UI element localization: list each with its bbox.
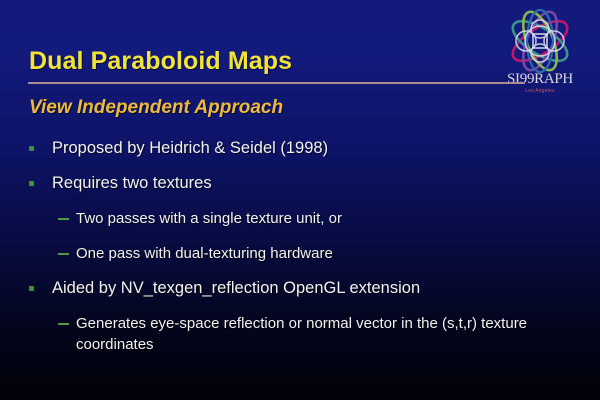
- dash-bullet-icon: [58, 218, 69, 220]
- square-bullet-icon: [29, 146, 34, 151]
- bullet-text: Proposed by Heidrich & Seidel (1998): [52, 138, 600, 158]
- siggraph-99-logo: SI99RAPH Los Angeles: [488, 8, 592, 102]
- sub-bullet-text: Two passes with a single texture unit, o…: [76, 208, 600, 229]
- title-divider: [28, 82, 525, 84]
- sub-bullet-item: Generates eye-space reflection or normal…: [0, 313, 600, 355]
- slide-title: Dual Paraboloid Maps: [29, 47, 292, 76]
- slide-subtitle: View Independent Approach: [29, 97, 283, 119]
- square-bullet-icon: [29, 181, 34, 186]
- logo-rings-icon: [488, 8, 592, 78]
- dash-bullet-icon: [58, 253, 69, 255]
- sub-bullet-text: One pass with dual-texturing hardware: [76, 243, 600, 264]
- square-bullet-icon: [29, 286, 34, 291]
- logo-wordmark: SI99RAPH: [488, 71, 592, 88]
- sub-bullet-text: Generates eye-space reflection or normal…: [76, 313, 544, 355]
- bullet-text: Requires two textures: [52, 173, 600, 193]
- logo-location-text: Los Angeles: [488, 88, 592, 94]
- slide-body: Proposed by Heidrich & Seidel (1998) Req…: [0, 138, 600, 369]
- presentation-slide: SI99RAPH Los Angeles Dual Paraboloid Map…: [0, 0, 600, 400]
- bullet-item: Aided by NV_texgen_reflection OpenGL ext…: [0, 278, 600, 298]
- bullet-text: Aided by NV_texgen_reflection OpenGL ext…: [52, 278, 600, 298]
- dash-bullet-icon: [58, 323, 69, 325]
- bullet-item: Requires two textures: [0, 173, 600, 193]
- bullet-item: Proposed by Heidrich & Seidel (1998): [0, 138, 600, 158]
- sub-bullet-item: One pass with dual-texturing hardware: [0, 243, 600, 264]
- sub-bullet-item: Two passes with a single texture unit, o…: [0, 208, 600, 229]
